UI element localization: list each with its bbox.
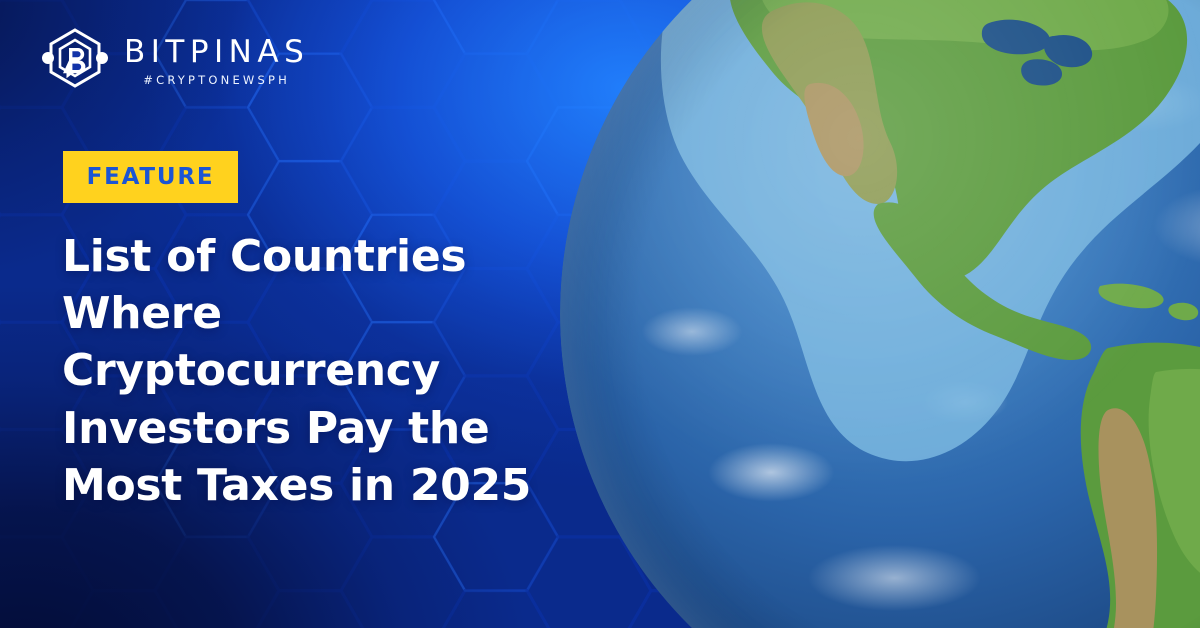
page-title: List of Countries Where Cryptocurrency I…	[62, 228, 607, 514]
feature-badge-label: FEATURE	[87, 164, 215, 190]
feature-banner: BITPINAS #CRYPTONEWSPH FEATURE List of C…	[0, 0, 1200, 628]
earth-globe-image	[560, 0, 1200, 628]
brand-wordmark: BITPINAS	[124, 37, 309, 68]
brand-logo[interactable]: BITPINAS #CRYPTONEWSPH	[40, 26, 309, 96]
bitpinas-hexagon-b-icon	[40, 26, 110, 96]
brand-tagline: #CRYPTONEWSPH	[143, 75, 290, 87]
feature-badge: FEATURE	[63, 151, 238, 203]
